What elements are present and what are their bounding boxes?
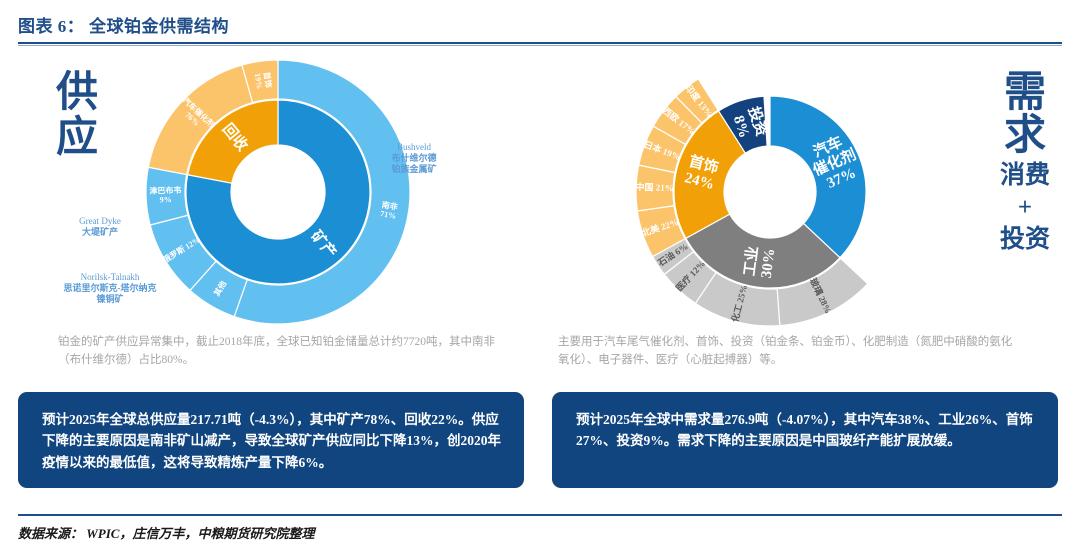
demand-donut-svg: 汽车催化剂37%工业30%首饰24%投资8%玻璃 28%化工 25%医疗 12%… <box>618 52 938 332</box>
figure-page: 图表 6： 全球铂金供需结构 供 应 需 求 消费 + 投资 矿产回收南非71%… <box>0 0 1080 556</box>
demand-sub-line1: 消费 <box>1000 162 1050 190</box>
supply-heading-line2: 应 <box>56 117 98 160</box>
figure-footer: 数据来源： WPIC，庄信万丰，中粮期货研究院整理 <box>18 514 1062 542</box>
footer-divider <box>18 514 1062 516</box>
demand-heading-line1: 需 <box>1000 72 1050 115</box>
slice-label: 首饰19% <box>253 71 274 89</box>
demand-heading: 需 求 消费 + 投资 <box>1000 72 1050 254</box>
demand-summary-box: 预计2025年全球中需求量276.9吨（-4.07%），其中汽车38%、工业26… <box>552 392 1058 488</box>
supply-heading: 供 应 <box>56 72 98 160</box>
header-divider <box>18 42 1062 44</box>
header-divider-thin <box>18 45 1062 46</box>
supply-heading-line1: 供 <box>56 72 98 115</box>
supply-caption: 铂金的矿产供应异常集中，截止2018年底，全球已知铂金储量总计约7720吨，其中… <box>58 334 513 370</box>
demand-donut-chart: 汽车催化剂37%工业30%首饰24%投资8%玻璃 28%化工 25%医疗 12%… <box>618 52 938 332</box>
source-note: 数据来源： WPIC，庄信万丰，中粮期货研究院整理 <box>18 523 1062 542</box>
figure-title: 图表 6： 全球铂金供需结构 <box>18 12 1062 42</box>
supply-summary-box: 预计2025年全球总供应量217.71吨（-4.3%），其中矿产78%、回收22… <box>18 392 524 488</box>
slice-label: 工业30% <box>742 245 779 279</box>
supply-donut-chart: 矿产回收南非71%其他俄罗斯 12%津巴布韦9%汽车催化剂76%首饰19%Bus… <box>118 52 438 332</box>
demand-sub-line2: + <box>1000 194 1050 222</box>
demand-heading-line2: 求 <box>1000 115 1050 158</box>
supply-donut-svg: 矿产回收南非71%其他俄罗斯 12%津巴布韦9%汽车催化剂76%首饰19%Bus… <box>118 52 438 332</box>
figure-header: 图表 6： 全球铂金供需结构 <box>18 12 1062 46</box>
slice-label: 中国 21% <box>635 181 674 193</box>
leader-label: Norilsk-Talnakh思诺里尔斯克-塔尔纳克镍铜矿 <box>64 272 157 304</box>
demand-sub-line3: 投资 <box>1000 226 1050 254</box>
leader-label: Great Dyke大堤矿产 <box>79 216 121 237</box>
demand-caption: 主要用于汽车尾气催化剂、首饰、投资（铂金条、铂金币）、化肥制造（氮肥中硝酸的氨化… <box>558 334 1013 370</box>
slice-label: 南非71% <box>380 199 399 220</box>
leader-label: Bushveld布什维尔德铂族金属矿 <box>390 142 436 174</box>
